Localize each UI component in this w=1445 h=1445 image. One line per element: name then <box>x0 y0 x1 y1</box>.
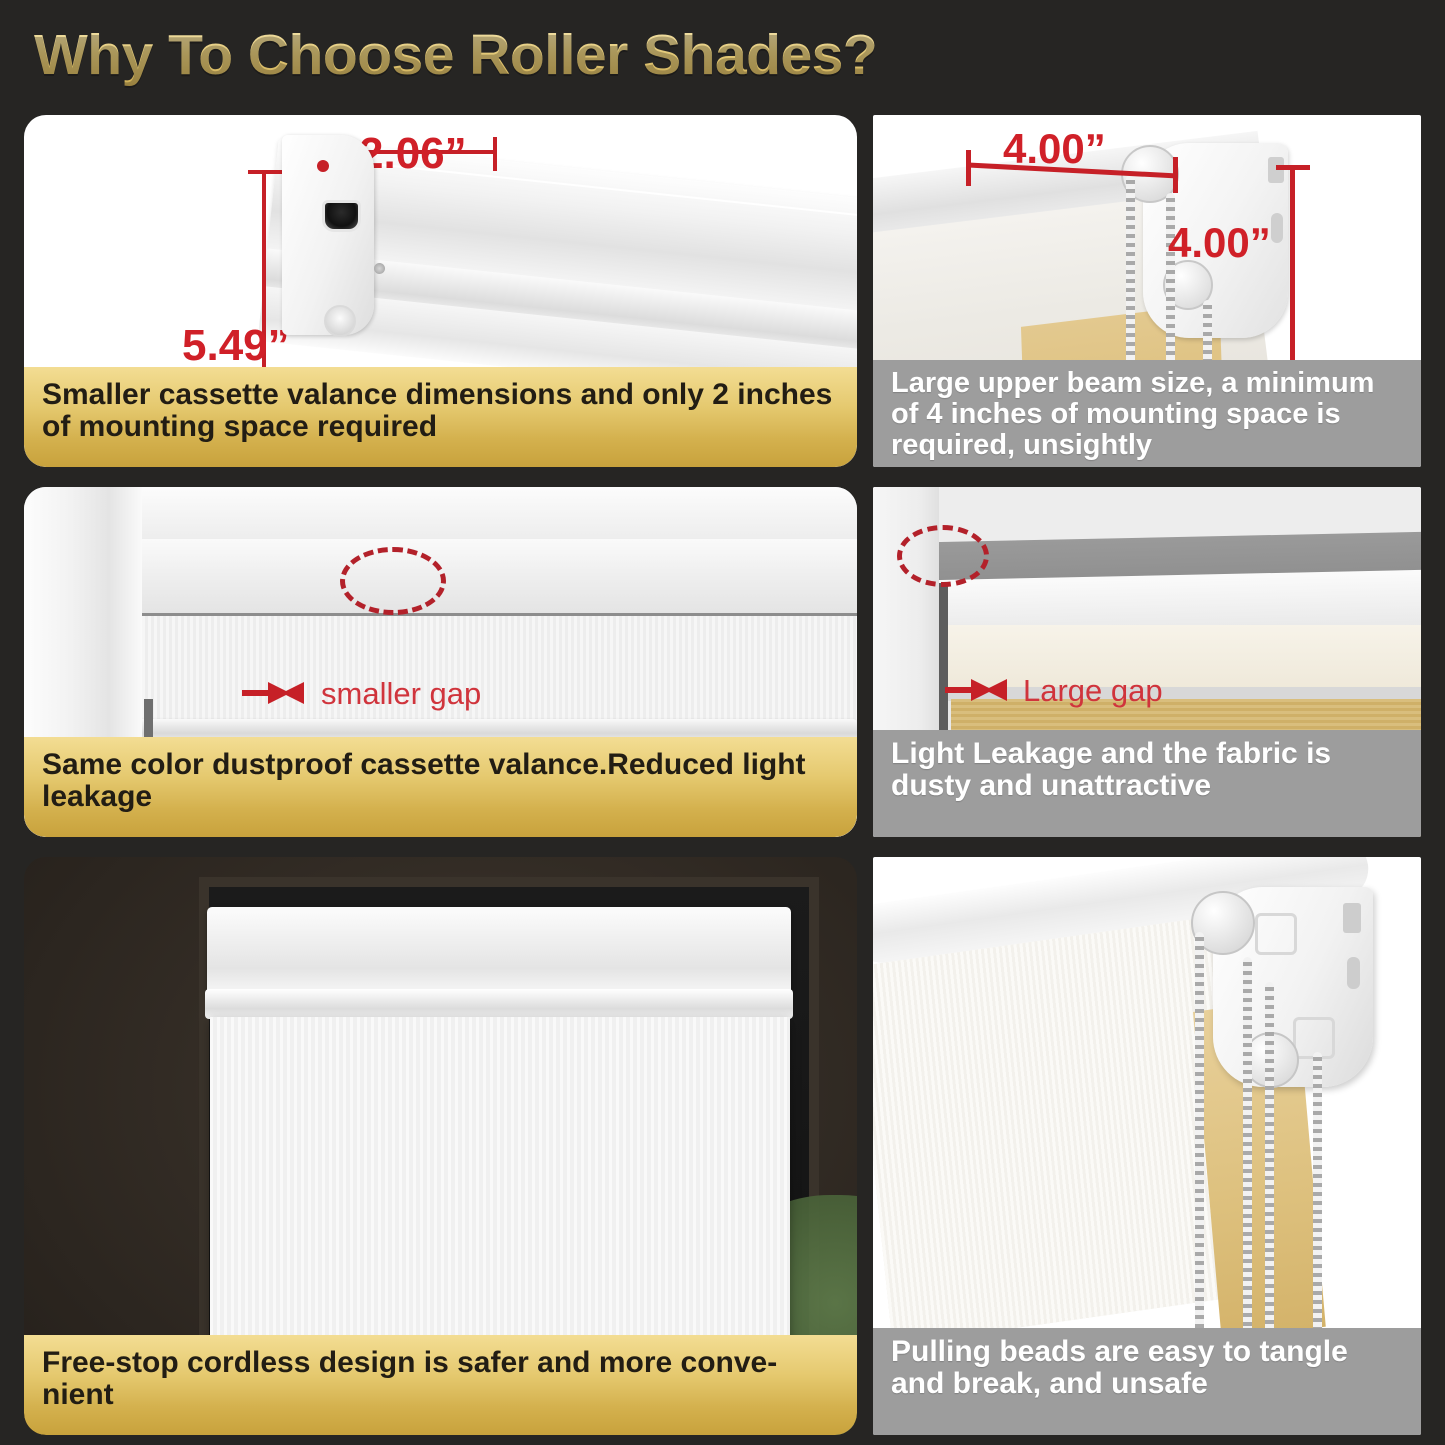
bracket-emboss-icon <box>1255 913 1297 955</box>
bracket-notch-lower <box>1271 213 1283 243</box>
bead-chain <box>1265 982 1274 1342</box>
gap-arrow-stem-left <box>945 687 973 693</box>
panel-caption: Light Leakage and the fabric is dusty an… <box>873 730 1421 837</box>
beam-width-label: 4.00” <box>1003 125 1106 173</box>
gap-arrow-left-icon <box>985 679 1007 701</box>
bead-chain <box>1195 932 1204 1337</box>
panel-caption: Smaller cassette valance dimensions and … <box>24 367 857 467</box>
panel-caption: Same color dustproof cassette valance.Re… <box>24 737 857 837</box>
cassette-valance-top <box>142 539 857 617</box>
valance-slot-upper <box>322 200 361 232</box>
width-tick-right <box>493 137 497 171</box>
bead-chain <box>1243 957 1252 1342</box>
cream-fabric-band <box>941 625 1421 689</box>
bracket-notch-upper <box>1268 157 1284 183</box>
panel-cordless-design: Free-stop cordless design is safer and m… <box>24 857 857 1435</box>
shade-upper-section <box>142 616 857 726</box>
headrail-lip <box>205 989 793 1019</box>
bracket-notch-upper <box>1343 903 1361 933</box>
width-origin-dot <box>317 160 329 172</box>
highlight-ellipse-icon <box>340 547 446 615</box>
panel-pulling-beads: Pulling beads are easy to tangle and bre… <box>873 857 1421 1435</box>
panel-caption: Free-stop cordless design is safer and m… <box>24 1335 857 1435</box>
valance-slot-lower <box>324 305 356 337</box>
panel-caption: Large upper beam size, a minimum of 4 in… <box>873 360 1421 467</box>
roller-shade-fabric <box>210 1017 790 1382</box>
panel-large-upper-beam: 4.00” 4.00” Large upper beam size, a min… <box>873 115 1421 467</box>
cassette-headrail <box>207 907 791 995</box>
panel-smaller-gap: smaller gap Same color dustproof cassett… <box>24 487 857 837</box>
panel-large-gap: Large gap Light Leakage and the fabric i… <box>873 487 1421 837</box>
gap-label: smaller gap <box>321 676 481 712</box>
valance-screw <box>374 263 385 274</box>
panel-cassette-dimensions: 2.06” 5.49” Smaller cassette valance dim… <box>24 115 857 467</box>
bead-chain <box>1313 1052 1322 1342</box>
beam-height-tick-top <box>1276 165 1310 170</box>
width-dimension-label: 2.06” <box>359 129 467 179</box>
beam-width-tick-left <box>966 150 971 186</box>
gap-arrow-stem-left <box>242 690 270 696</box>
highlight-ellipse-icon <box>897 525 989 587</box>
beam-height-label: 4.00” <box>1168 219 1271 267</box>
beam-width-tick-right <box>1173 157 1178 193</box>
bracket-notch-lower <box>1347 957 1360 989</box>
height-dimension-label: 5.49” <box>182 321 290 371</box>
panel-caption: Pulling beads are easy to tangle and bre… <box>873 1328 1421 1435</box>
gap-label: Large gap <box>1023 673 1163 709</box>
window-frame-top <box>134 487 857 543</box>
gap-arrow-left-icon <box>282 682 304 704</box>
height-tick-top <box>248 170 282 174</box>
page-title: Why To Choose Roller Shades? <box>34 22 1234 92</box>
comparison-grid: 2.06” 5.49” Smaller cassette valance dim… <box>0 112 1445 1445</box>
